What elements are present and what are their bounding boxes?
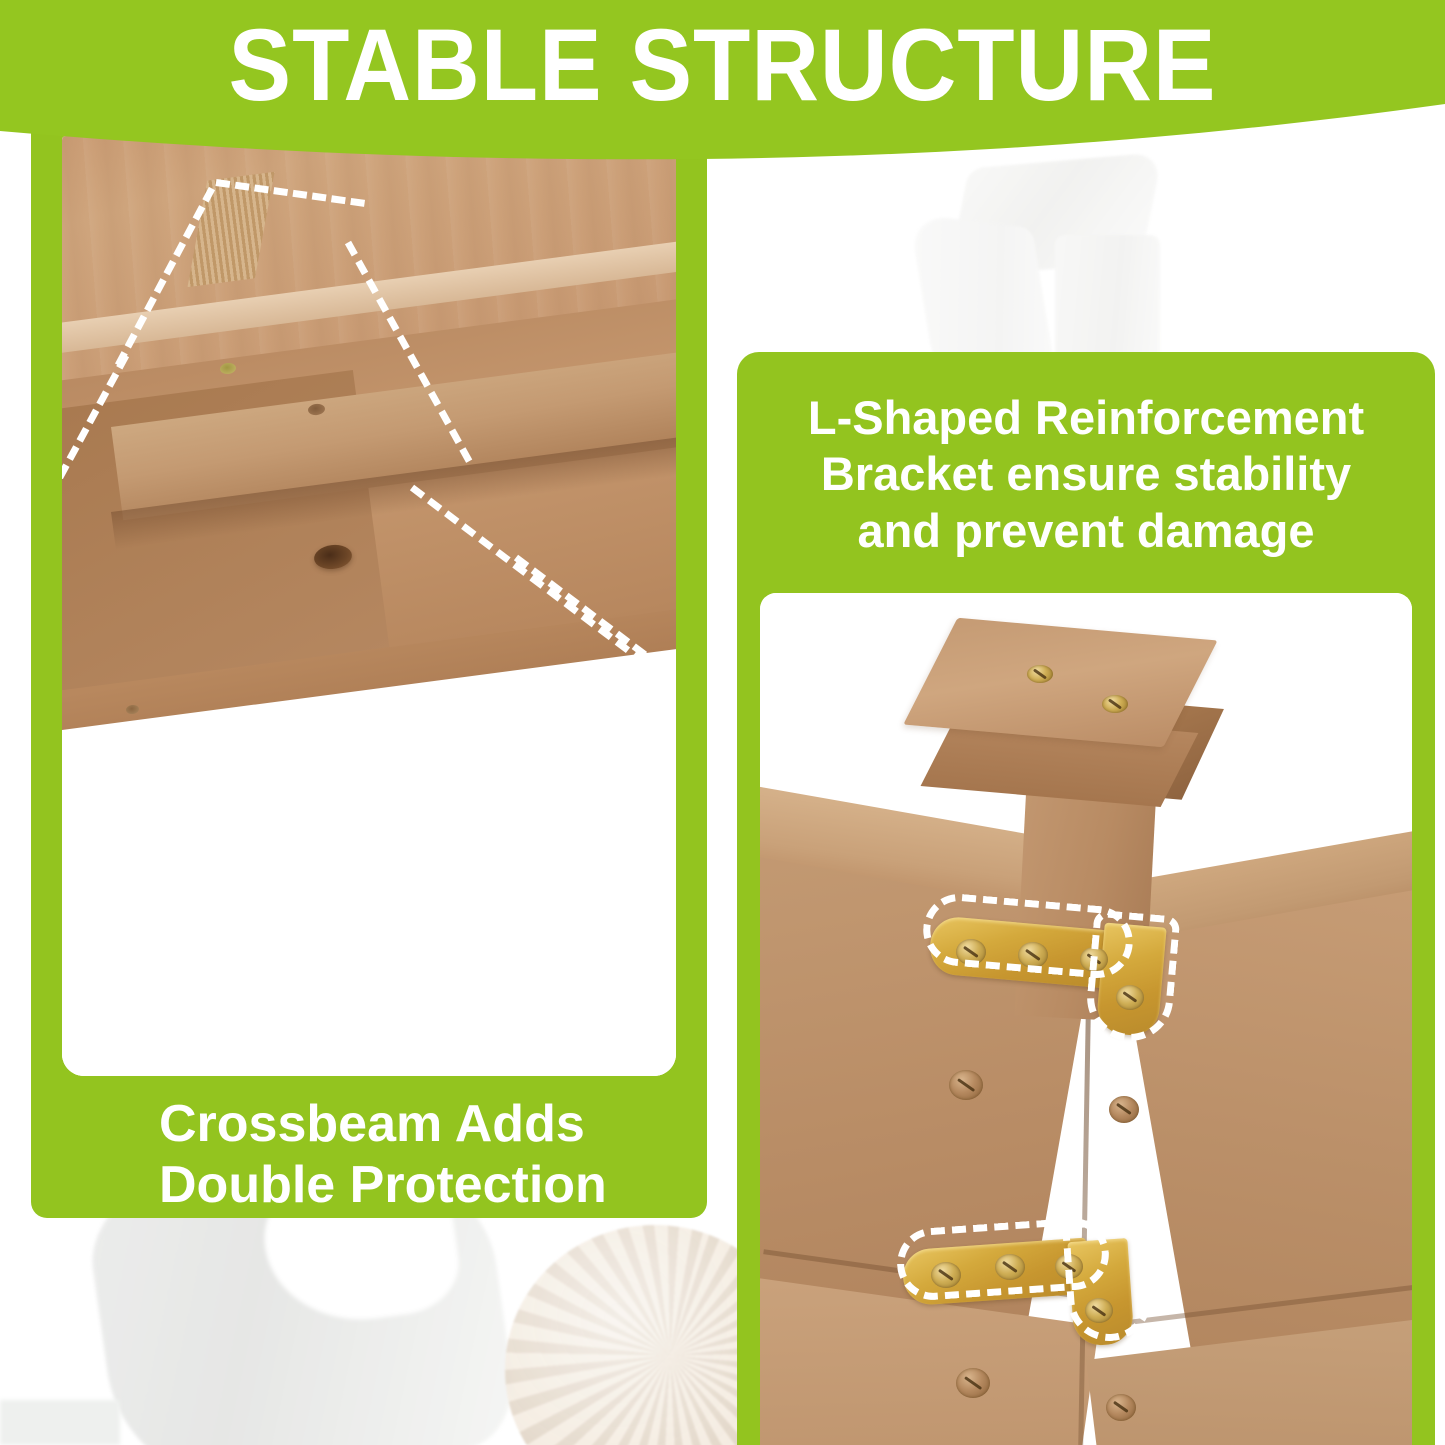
card-bracket: L-Shaped Reinforcement Bracket ensure st… [737, 352, 1435, 1445]
bracket-heading: L-Shaped Reinforcement Bracket ensure st… [755, 390, 1417, 559]
panel-screw-upper-right [1109, 1096, 1139, 1123]
panel-screw-lower-left [956, 1368, 990, 1398]
background-strip [0, 1400, 120, 1445]
bracket-photo [760, 593, 1412, 1445]
bracket-heading-line-2: Bracket ensure stability [755, 446, 1417, 502]
crossbeam-caption-line-2: Double Protection [159, 1155, 671, 1216]
crossbeam-photo-artwork [62, 136, 676, 1076]
bracket-heading-line-3: and prevent damage [755, 503, 1417, 559]
bracket-photo-artwork [760, 593, 1412, 1445]
bracket-heading-line-1: L-Shaped Reinforcement [755, 390, 1417, 446]
bracket-lower-highlight-outline-vertical [1062, 1216, 1154, 1344]
card-crossbeam: Crossbeam Adds Double Protection [31, 118, 707, 1218]
panel-screw-upper-left [949, 1070, 983, 1100]
crossbeam-caption-line-1: Crossbeam Adds [159, 1094, 671, 1155]
crossbeam-photo [62, 136, 676, 1076]
post-cap-block [903, 618, 1217, 747]
panel-screw-lower-right [1106, 1394, 1136, 1421]
crossbeam-caption: Crossbeam Adds Double Protection [31, 1094, 707, 1217]
header-banner: STABLE STRUCTURE [0, 0, 1445, 200]
page-title: STABLE STRUCTURE [58, 14, 1387, 116]
